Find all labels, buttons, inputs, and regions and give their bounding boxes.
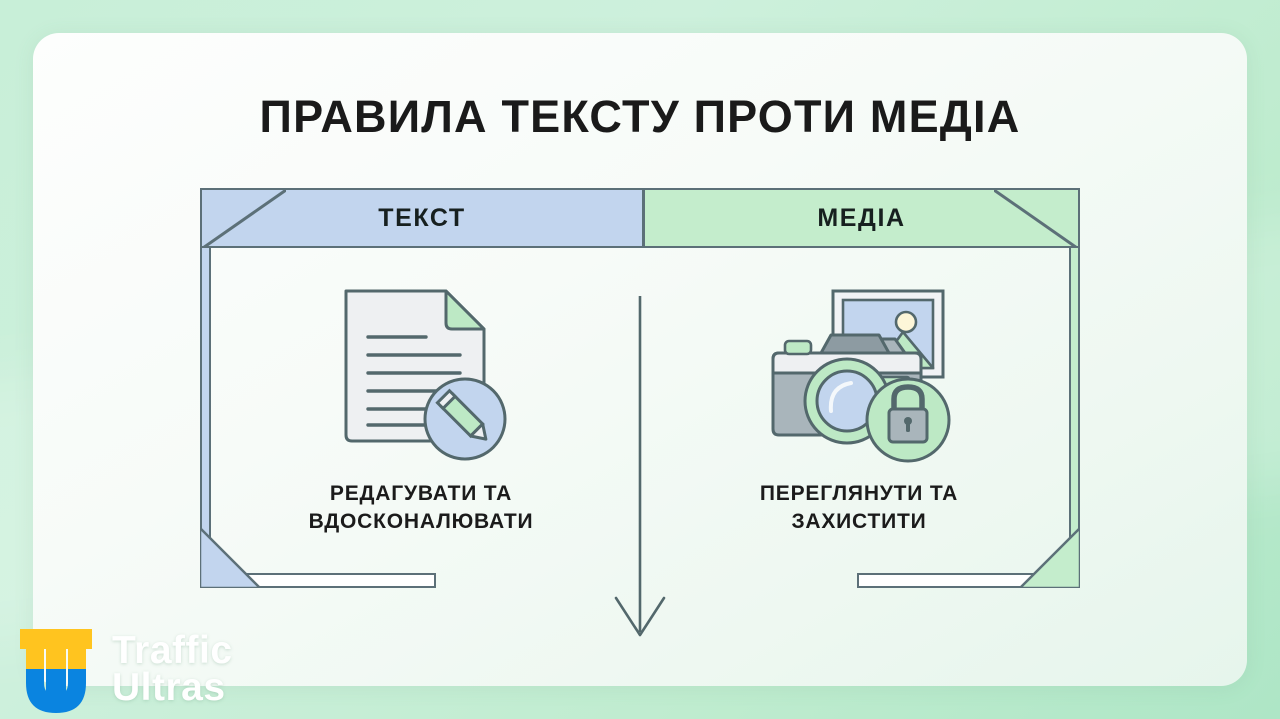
page-title: ПРАВИЛА ТЕКСТУ ПРОТИ МЕДІА xyxy=(33,91,1247,143)
column-text-caption: РЕДАГУВАТИ ТА ВДОСКОНАЛЮВАТИ xyxy=(309,480,534,536)
document-with-pencil-icon xyxy=(334,284,509,464)
frame-rail-right xyxy=(1069,248,1080,588)
column-media-caption: ПЕРЕГЛЯНУТИ ТА ЗАХИСТИТИ xyxy=(760,480,958,536)
column-header-text-label: ТЕКСТ xyxy=(202,190,642,246)
column-header-media-label: МЕДІА xyxy=(645,190,1078,246)
column-header-text: ТЕКСТ xyxy=(200,188,644,248)
brand-logo-wordmark: Traffic Ultras xyxy=(112,632,233,706)
brand-logo: Traffic Ultras xyxy=(14,625,233,713)
tu-monogram-logo-icon xyxy=(14,625,98,713)
brand-logo-line2: Ultras xyxy=(112,669,233,706)
slide-canvas: ПРАВИЛА ТЕКСТУ ПРОТИ МЕДІА ТЕКСТ МЕДІА xyxy=(0,0,1280,719)
frame-rail-left xyxy=(200,248,211,588)
comparison-frame: ТЕКСТ МЕДІА xyxy=(200,188,1080,588)
column-text: РЕДАГУВАТИ ТА ВДОСКОНАЛЮВАТИ xyxy=(211,258,631,588)
camera-with-lock-icon xyxy=(761,284,957,464)
column-header-media: МЕДІА xyxy=(643,188,1080,248)
slide-card: ПРАВИЛА ТЕКСТУ ПРОТИ МЕДІА ТЕКСТ МЕДІА xyxy=(33,33,1247,686)
brand-logo-line1: Traffic xyxy=(112,632,233,669)
column-media: ПЕРЕГЛЯНУТИ ТА ЗАХИСТИТИ xyxy=(649,258,1069,588)
